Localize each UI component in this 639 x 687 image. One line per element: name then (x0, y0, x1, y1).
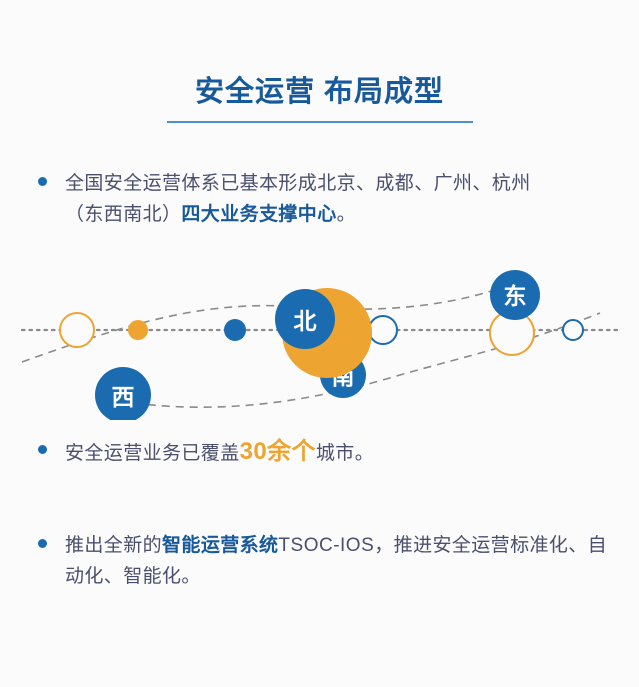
bullet-3-highlight: 智能运营系统 (162, 535, 278, 556)
bullet-dot-icon (38, 539, 47, 548)
bullet-3-text: 推出全新的智能运营系统TSOC-IOS，推进安全运营标准化、自动化、智能化。 (65, 530, 608, 592)
bullet-1-line2-prefix: （东西南北） (65, 204, 181, 225)
orbit-upper-curve (22, 281, 520, 362)
page-title-block: 安全运营 布局成型 (0, 72, 639, 123)
infographic-page: 安全运营 布局成型 全国安全运营体系已基本形成北京、成都、广州、杭州 （东西南北… (0, 0, 639, 687)
dot-orange-hollow-left (60, 313, 94, 347)
node-east[interactable]: 东 (490, 270, 540, 320)
bullet-item-3: 推出全新的智能运营系统TSOC-IOS，推进安全运营标准化、自动化、智能化。 (38, 530, 608, 592)
bullet-3-product-code: TSOC-IOS (278, 535, 374, 556)
node-north-label: 北 (294, 308, 317, 334)
node-north[interactable]: 北 (275, 289, 335, 349)
bullet-3-prefix: 推出全新的 (65, 535, 162, 556)
node-east-label: 东 (504, 283, 527, 309)
title-underline (167, 121, 473, 123)
bullet-1-line1: 全国安全运营体系已基本形成北京、成都、广州、杭州 (65, 173, 531, 194)
bullet-dot-icon (38, 177, 47, 186)
bullet-1-highlight: 四大业务支撑中心 (181, 204, 336, 225)
bullet-2-suffix: 城市。 (316, 443, 374, 464)
page-title: 安全运营 布局成型 (0, 72, 639, 112)
dot-blue-hollow-right (563, 320, 583, 340)
dot-blue-hollow-mid (369, 316, 397, 344)
bullet-2-text: 安全运营业务已覆盖30余个城市。 (65, 436, 598, 469)
dot-blue-small-left (224, 319, 246, 341)
bullet-2-highlight: 30余个 (240, 438, 316, 465)
bullet-2-prefix: 安全运营业务已覆盖 (65, 443, 240, 464)
bullet-item-1: 全国安全运营体系已基本形成北京、成都、广州、杭州 （东西南北）四大业务支撑中心。 (38, 168, 598, 230)
bullet-1-text: 全国安全运营体系已基本形成北京、成都、广州、杭州 （东西南北）四大业务支撑中心。 (65, 168, 598, 230)
node-west-label: 西 (112, 384, 135, 410)
network-diagram: 南 北 东 西 (0, 255, 639, 420)
bullet-1-line2-suffix: 。 (337, 204, 356, 225)
bullet-item-2: 安全运营业务已覆盖30余个城市。 (38, 436, 598, 469)
bullet-dot-icon (38, 445, 47, 454)
dot-orange-small-left (128, 320, 148, 340)
node-west[interactable]: 西 (95, 367, 151, 420)
